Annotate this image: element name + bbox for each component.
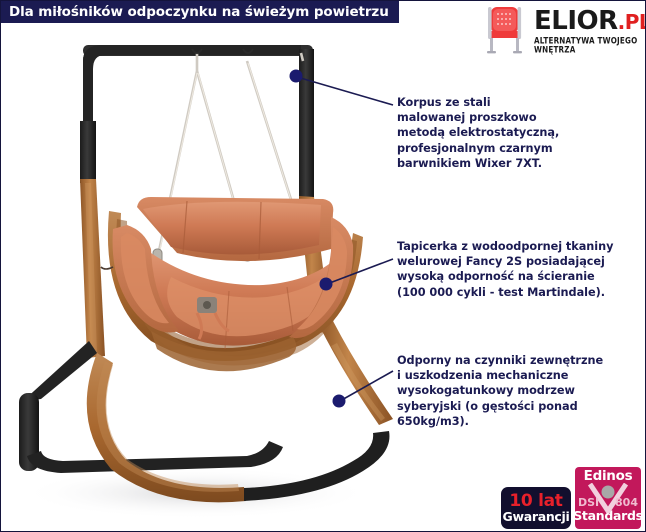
callout-text-upholstery: Tapicerka z wodoodpornej tkaniny welurow… — [397, 239, 645, 300]
edinos-standards-badge: Edinos DSI 804 Standards — [575, 467, 641, 529]
warranty-label: Gwarancji — [502, 511, 569, 524]
header-banner: Dla miłośników odpoczynku na świeżym pow… — [1, 1, 399, 23]
callout-text-steel-frame: Korpus ze stali malowanej proszkowo meto… — [397, 95, 643, 171]
hanging-chair — [101, 197, 363, 371]
edinos-right-code: 804 — [615, 497, 638, 508]
edinos-title: Edinos — [584, 469, 633, 484]
callout-text-wood: Odporny na czynniki zewnętrzne i uszkodz… — [397, 353, 645, 429]
edinos-mark-row: DSI 804 — [577, 484, 639, 512]
warranty-years: 10 lat — [509, 493, 562, 510]
brand-logo[interactable]: ELIOR.PL ALTERNATYWA TWOJEGO WNĘTRZA — [479, 3, 639, 55]
product-image — [1, 1, 401, 531]
warranty-badge: 10 lat Gwarancji — [501, 487, 571, 529]
red-chair-icon — [479, 3, 531, 55]
logo-tagline: ALTERNATYWA TWOJEGO WNĘTRZA — [534, 36, 646, 54]
infographic-page: Dla miłośników odpoczynku na świeżym pow… — [0, 0, 646, 532]
logo-wordmark: ELIOR.PL — [534, 8, 646, 35]
edinos-left-code: DSI — [578, 497, 599, 508]
logo-name-main: ELIOR — [534, 6, 618, 36]
logo-name-suffix: .PL — [618, 10, 646, 34]
badge-row: 10 lat Gwarancji Edinos DSI 804 Standard… — [501, 467, 641, 529]
